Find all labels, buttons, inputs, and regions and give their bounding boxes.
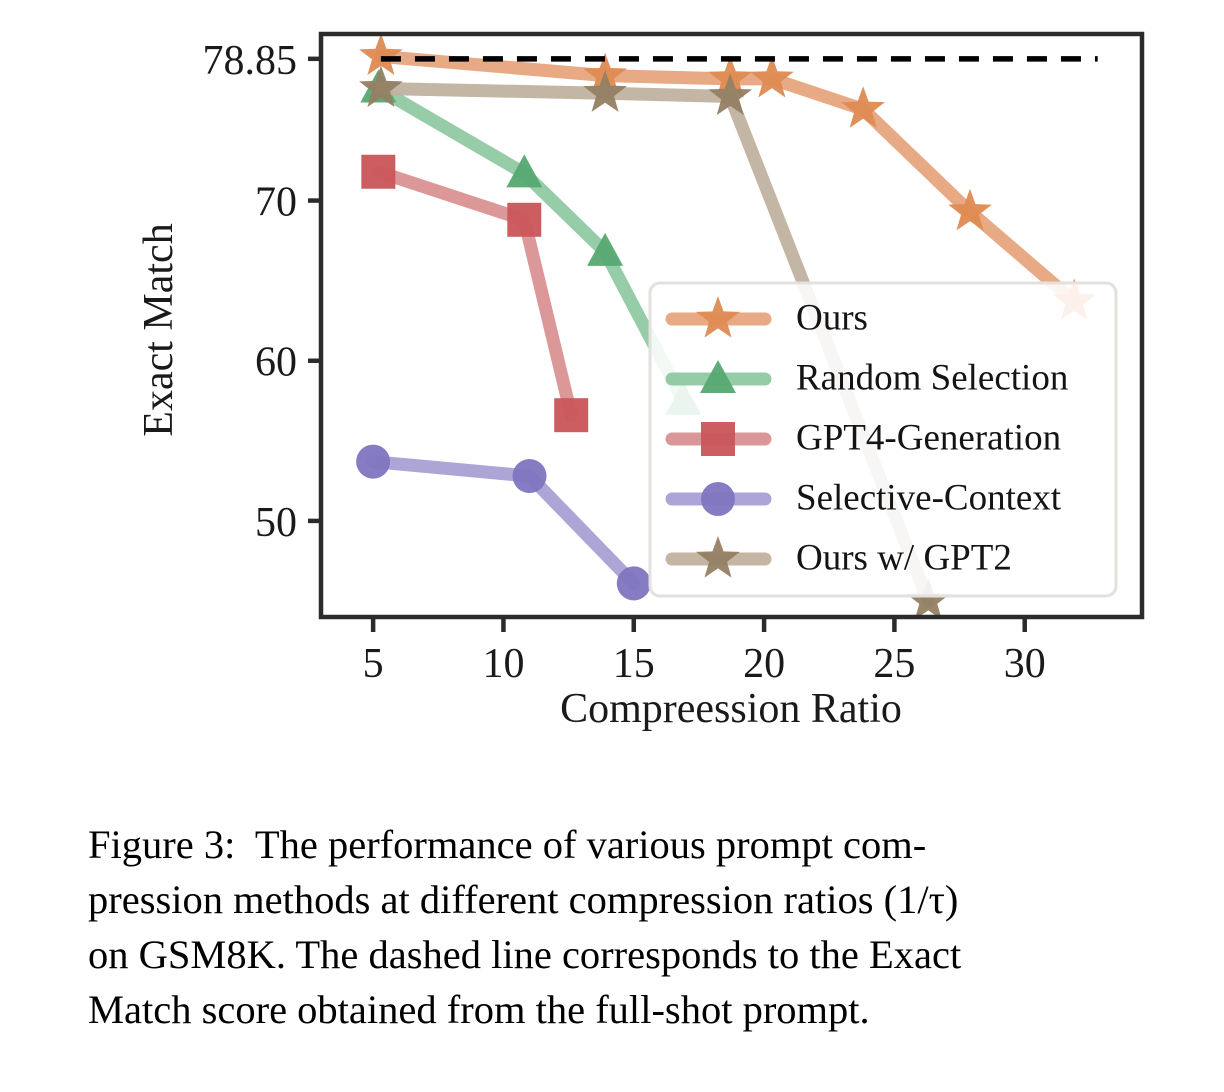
legend-label: GPT4-Generation xyxy=(796,417,1061,458)
legend-label: Selective-Context xyxy=(796,477,1062,518)
circle-icon xyxy=(701,482,735,516)
data-point-marker xyxy=(513,459,547,493)
y-axis-title: Exact Match xyxy=(136,223,182,436)
legend-label: Ours w/ GPT2 xyxy=(796,537,1012,578)
x-tick-label: 30 xyxy=(1004,641,1046,687)
y-tick-label: 78.85 xyxy=(203,38,298,84)
y-tick-label: 60 xyxy=(255,340,297,386)
x-axis-title: Compreession Ratio xyxy=(560,686,902,732)
figure-page: 78.85706050 51015202530 Exact Match Comp… xyxy=(0,0,1224,1092)
data-point-marker xyxy=(554,398,588,432)
x-axis-ticks: 51015202530 xyxy=(363,617,1046,687)
data-point-marker xyxy=(507,203,541,237)
figure-3: 78.85706050 51015202530 Exact Match Comp… xyxy=(0,0,1224,790)
caption-line: pression methods at different compressio… xyxy=(88,873,1140,928)
caption-line: on GSM8K. The dashed line corresponds to… xyxy=(88,928,1140,983)
x-tick-label: 20 xyxy=(743,641,785,687)
y-tick-label: 70 xyxy=(255,180,297,226)
caption-line: Match score obtained from the full-shot … xyxy=(88,983,1140,1038)
data-point-marker xyxy=(356,445,390,479)
caption-line: Figure 3: The performance of various pro… xyxy=(88,818,1140,873)
legend-item-gpt4-generation[interactable]: GPT4-Generation xyxy=(672,417,1061,458)
data-point-marker xyxy=(361,155,395,189)
legend-label: Random Selection xyxy=(796,357,1068,398)
square-icon xyxy=(701,422,735,456)
x-tick-label: 10 xyxy=(482,641,524,687)
chart-legend[interactable]: OursRandom SelectionGPT4-GenerationSelec… xyxy=(650,283,1116,596)
y-axis-ticks: 78.85706050 xyxy=(203,38,322,546)
x-tick-label: 25 xyxy=(873,641,915,687)
figure-caption: Figure 3: The performance of various pro… xyxy=(88,818,1140,1038)
exact-match-vs-compression-chart: 78.85706050 51015202530 Exact Match Comp… xyxy=(0,0,1224,790)
data-point-marker xyxy=(617,566,651,600)
x-tick-label: 5 xyxy=(363,641,384,687)
legend-label: Ours xyxy=(796,297,868,338)
x-tick-label: 15 xyxy=(613,641,655,687)
y-tick-label: 50 xyxy=(255,500,297,546)
